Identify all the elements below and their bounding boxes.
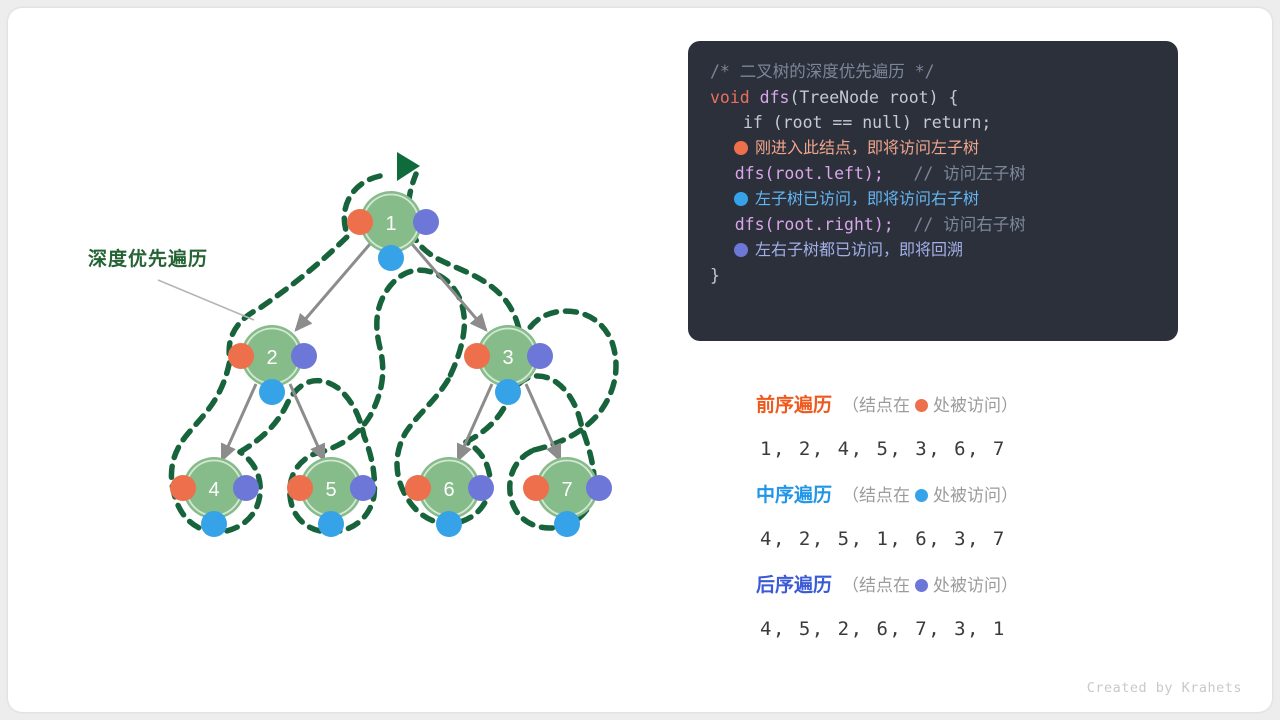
node-1-postorder-dot bbox=[413, 209, 439, 235]
code-call-dfs-right: dfs(root.right); bbox=[735, 215, 894, 234]
preorder-note-prefix: （结点在 bbox=[842, 396, 910, 415]
node-1-inorder-dot bbox=[378, 245, 404, 271]
node-4-value: 4 bbox=[208, 479, 219, 501]
postorder-dot-icon bbox=[734, 243, 748, 257]
preorder-title: 前序遍历 bbox=[756, 395, 832, 416]
credit-footer: Created by Krahets bbox=[1087, 680, 1242, 696]
result-group-preorder: 前序遍历（结点在处被访问） 1, 2, 4, 5, 3, 6, 7 bbox=[688, 386, 1188, 473]
inorder-legend-dot-icon bbox=[915, 489, 928, 502]
code-line-close-brace: } bbox=[710, 263, 1178, 289]
preorder-note-suffix: 处被访问） bbox=[933, 396, 1018, 415]
code-note-postorder-text: 左右子树都已访问，即将回溯 bbox=[755, 242, 963, 259]
code-note-preorder-text: 刚进入此结点，即将访问左子树 bbox=[755, 140, 979, 157]
code-line-comment-header: /* 二叉树的深度优先遍历 */ bbox=[710, 59, 1178, 85]
code-keyword-void: void bbox=[710, 88, 750, 107]
code-line-nullcheck: if (root == null) return; bbox=[710, 110, 1178, 136]
node-3-inorder-dot bbox=[495, 379, 521, 405]
node-7-postorder-dot bbox=[586, 475, 612, 501]
edge-1-3 bbox=[412, 244, 486, 330]
binary-tree-diagram: 1 2 3 bbox=[8, 8, 668, 712]
code-line-dfs-left: dfs(root.left);// 访问左子树 bbox=[710, 161, 1178, 187]
inorder-sequence: 4, 2, 5, 1, 6, 3, 7 bbox=[688, 516, 1188, 563]
dfs-label: 深度优先遍历 bbox=[88, 244, 208, 271]
tree-node-6[interactable]: 6 bbox=[405, 457, 494, 537]
code-line-signature: void dfs(TreeNode root) { bbox=[710, 85, 1178, 111]
preorder-sequence: 1, 2, 4, 5, 3, 6, 7 bbox=[688, 426, 1188, 473]
result-group-inorder: 中序遍历（结点在处被访问） 4, 2, 5, 1, 6, 3, 7 bbox=[688, 476, 1188, 563]
edge-1-2 bbox=[296, 244, 370, 330]
node-2-postorder-dot bbox=[291, 343, 317, 369]
preorder-dot-icon bbox=[734, 141, 748, 155]
node-7-preorder-dot bbox=[523, 475, 549, 501]
label-leader-line bbox=[158, 280, 254, 320]
node-5-postorder-dot bbox=[350, 475, 376, 501]
tree-svg: 1 2 3 bbox=[8, 8, 668, 712]
edge-2-5 bbox=[290, 384, 324, 460]
node-3-value: 3 bbox=[502, 347, 513, 369]
code-call-dfs-left: dfs(root.left); bbox=[735, 164, 884, 183]
tree-node-2[interactable]: 2 bbox=[228, 325, 317, 405]
tree-node-3[interactable]: 3 bbox=[464, 325, 553, 405]
edge-2-4 bbox=[222, 384, 256, 460]
tree-node-5[interactable]: 5 bbox=[287, 457, 376, 537]
result-group-postorder: 后序遍历（结点在处被访问） 4, 5, 2, 6, 7, 3, 1 bbox=[688, 566, 1188, 653]
code-note-postorder: 左右子树都已访问，即将回溯 bbox=[710, 238, 1178, 264]
node-5-preorder-dot bbox=[287, 475, 313, 501]
node-6-preorder-dot bbox=[405, 475, 431, 501]
postorder-title: 后序遍历 bbox=[756, 575, 832, 596]
inorder-heading-row: 中序遍历（结点在处被访问） bbox=[688, 476, 1188, 516]
code-note-inorder-text: 左子树已访问，即将访问右子树 bbox=[755, 191, 979, 208]
node-4-postorder-dot bbox=[233, 475, 259, 501]
code-function-name: dfs bbox=[750, 88, 790, 107]
postorder-heading-row: 后序遍历（结点在处被访问） bbox=[688, 566, 1188, 606]
inorder-title: 中序遍历 bbox=[756, 485, 832, 506]
node-3-postorder-dot bbox=[527, 343, 553, 369]
code-note-preorder: 刚进入此结点，即将访问左子树 bbox=[710, 136, 1178, 162]
node-7-inorder-dot bbox=[554, 511, 580, 537]
code-note-inorder: 左子树已访问，即将访问右子树 bbox=[710, 187, 1178, 213]
code-line-dfs-right: dfs(root.right);// 访问右子树 bbox=[710, 212, 1178, 238]
node-1-preorder-dot bbox=[347, 209, 373, 235]
inorder-dot-icon bbox=[734, 192, 748, 206]
node-2-inorder-dot bbox=[259, 379, 285, 405]
inorder-note-prefix: （结点在 bbox=[842, 486, 910, 505]
tree-node-4[interactable]: 4 bbox=[170, 457, 259, 537]
node-4-preorder-dot bbox=[170, 475, 196, 501]
code-comment-left: // 访问左子树 bbox=[913, 164, 1025, 183]
node-5-value: 5 bbox=[325, 479, 336, 501]
postorder-note-prefix: （结点在 bbox=[842, 576, 910, 595]
node-6-value: 6 bbox=[443, 479, 454, 501]
code-comment-right: // 访问右子树 bbox=[914, 215, 1026, 234]
preorder-heading-row: 前序遍历（结点在处被访问） bbox=[688, 386, 1188, 426]
postorder-sequence: 4, 5, 2, 6, 7, 3, 1 bbox=[688, 606, 1188, 653]
node-2-value: 2 bbox=[266, 347, 277, 369]
node-1-value: 1 bbox=[385, 213, 396, 235]
node-2-preorder-dot bbox=[228, 343, 254, 369]
postorder-note-suffix: 处被访问） bbox=[933, 576, 1018, 595]
figure-card: 1 2 3 bbox=[8, 8, 1272, 712]
postorder-note: （结点在处被访问） bbox=[842, 576, 1018, 595]
node-3-preorder-dot bbox=[464, 343, 490, 369]
tree-node-7[interactable]: 7 bbox=[523, 457, 612, 537]
node-6-inorder-dot bbox=[436, 511, 462, 537]
node-4-inorder-dot bbox=[201, 511, 227, 537]
preorder-note: （结点在处被访问） bbox=[842, 396, 1018, 415]
node-7-value: 7 bbox=[561, 479, 572, 501]
inorder-note-suffix: 处被访问） bbox=[933, 486, 1018, 505]
code-block: /* 二叉树的深度优先遍历 */ void dfs(TreeNode root)… bbox=[688, 41, 1178, 341]
inorder-note: （结点在处被访问） bbox=[842, 486, 1018, 505]
node-5-inorder-dot bbox=[318, 511, 344, 537]
node-6-postorder-dot bbox=[468, 475, 494, 501]
postorder-legend-dot-icon bbox=[915, 579, 928, 592]
preorder-legend-dot-icon bbox=[915, 399, 928, 412]
code-signature-rest: (TreeNode root) { bbox=[790, 88, 959, 107]
traversal-results: 前序遍历（结点在处被访问） 1, 2, 4, 5, 3, 6, 7 中序遍历（结… bbox=[688, 386, 1188, 656]
